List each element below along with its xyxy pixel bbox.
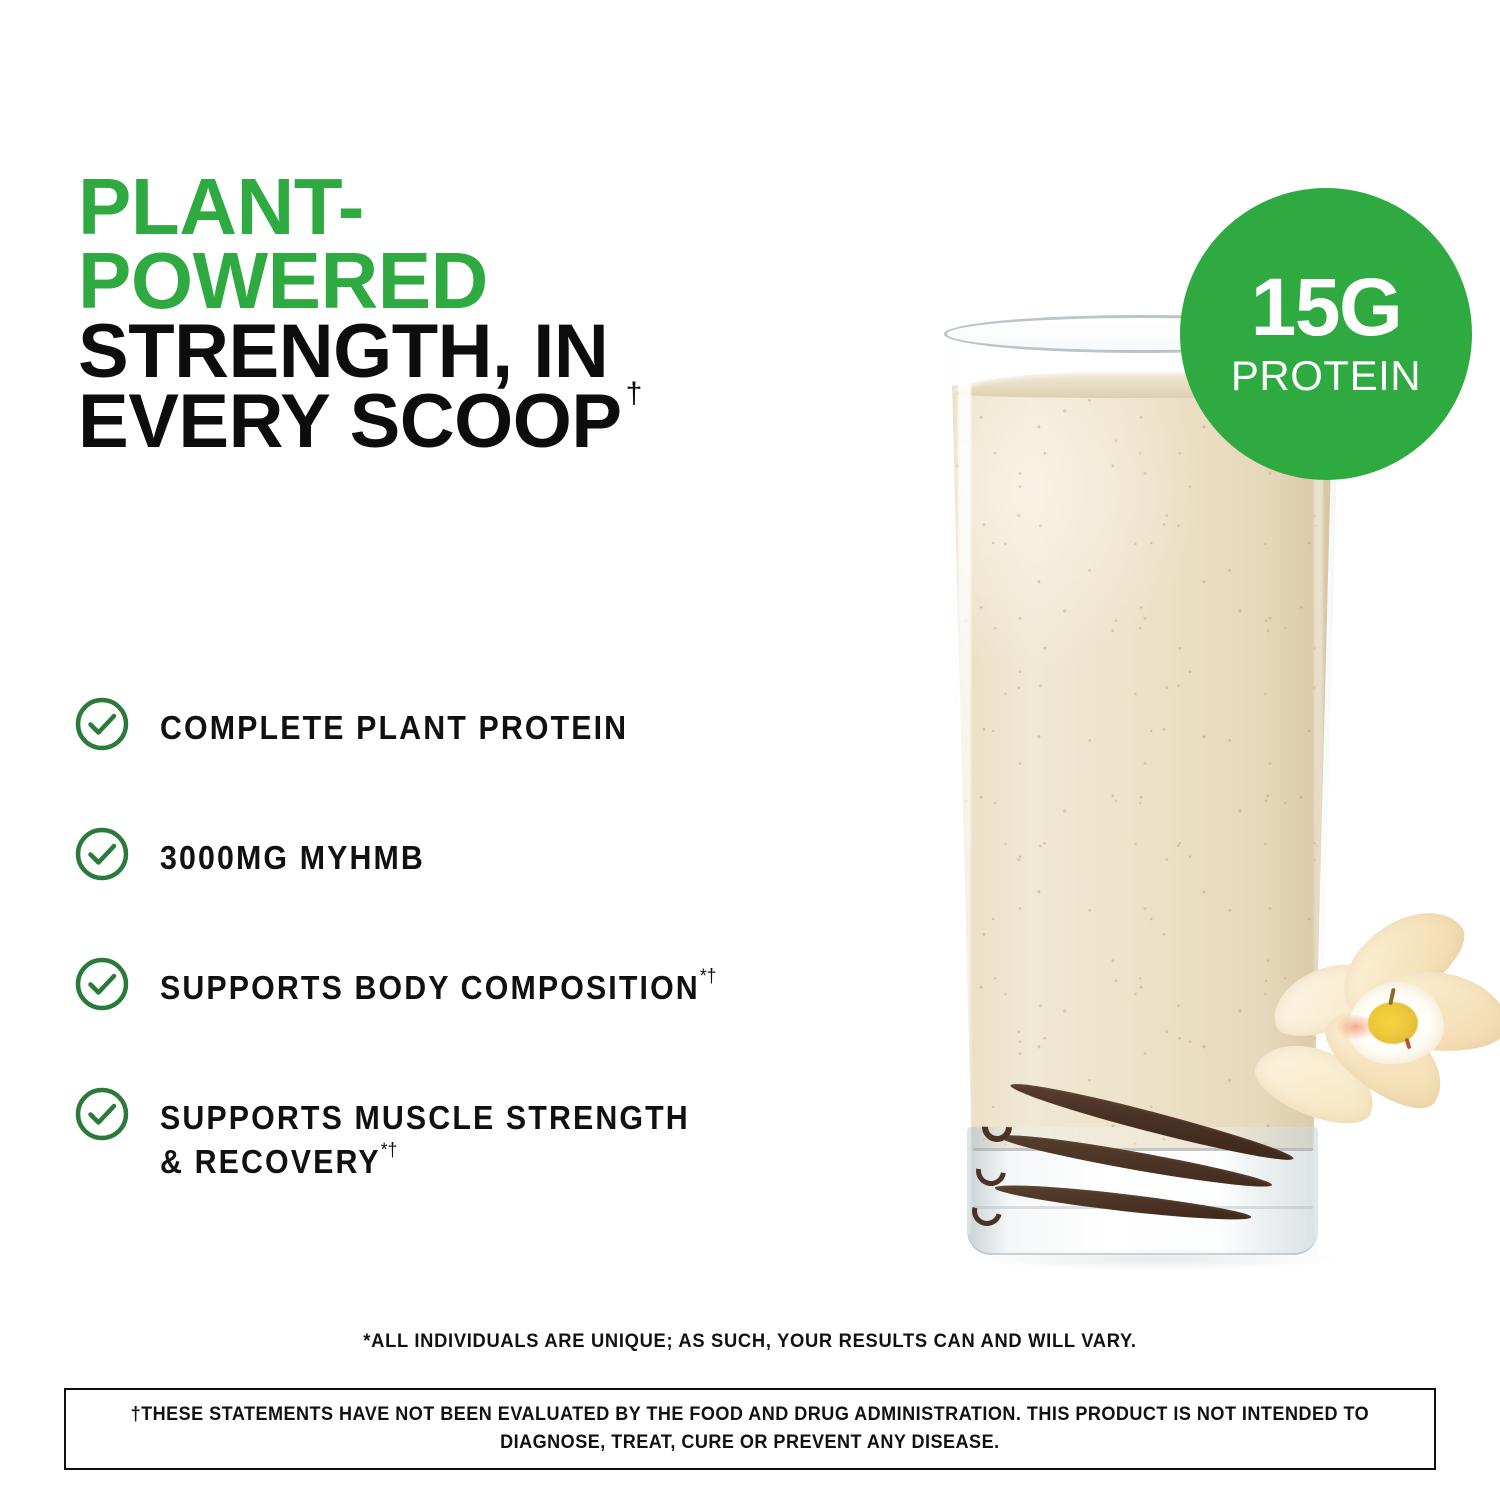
- fda-disclaimer-box: †THESE STATEMENTS HAVE NOT BEEN EVALUATE…: [64, 1388, 1436, 1470]
- benefit-label-line2: & RECOVERY: [160, 1143, 381, 1180]
- headline-line-1: PLANT-: [78, 170, 878, 244]
- protein-badge: 15G PROTEIN: [1180, 188, 1472, 480]
- benefit-text: SUPPORTS MUSCLE STRENGTH & RECOVERY*†: [160, 1090, 690, 1183]
- benefit-text: 3000MG MYHMB: [160, 830, 425, 880]
- benefit-superscript: *†: [700, 966, 717, 987]
- badge-amount: 15G: [1251, 271, 1402, 345]
- benefit-label-line1: SUPPORTS MUSCLE STRENGTH: [160, 1099, 690, 1136]
- list-item: 3000MG MYHMB: [74, 830, 974, 882]
- benefits-list: COMPLETE PLANT PROTEIN 3000MG MYHMB SUPP…: [74, 700, 974, 1183]
- headline-line-2: POWERED: [78, 244, 878, 318]
- benefit-label: 3000MG MYHMB: [160, 839, 425, 876]
- list-item: SUPPORTS MUSCLE STRENGTH & RECOVERY*†: [74, 1090, 974, 1183]
- flower-center: [1368, 1002, 1418, 1044]
- check-circle-icon: [74, 956, 130, 1012]
- list-item: COMPLETE PLANT PROTEIN: [74, 700, 974, 752]
- headline-line-3: STRENGTH, IN: [78, 317, 878, 387]
- vanilla-bean-hook: [967, 1191, 1008, 1232]
- disclaimer-line-2: DIAGNOSE, TREAT, CURE OR PREVENT ANY DIS…: [500, 1429, 999, 1458]
- benefit-label: COMPLETE PLANT PROTEIN: [160, 709, 628, 746]
- check-circle-icon: [74, 696, 130, 752]
- vanilla-orchid-flower: [1240, 910, 1500, 1170]
- results-footnote: *ALL INDIVIDUALS ARE UNIQUE; AS SUCH, YO…: [45, 1330, 1455, 1353]
- badge-label: PROTEIN: [1231, 355, 1421, 397]
- benefit-label: SUPPORTS BODY COMPOSITION: [160, 969, 700, 1006]
- check-circle-icon: [74, 1086, 130, 1142]
- disclaimer-line-1: †THESE STATEMENTS HAVE NOT BEEN EVALUATE…: [131, 1401, 1370, 1430]
- headline-dagger-superscript: †: [626, 377, 643, 410]
- benefit-text: COMPLETE PLANT PROTEIN: [160, 700, 628, 750]
- vanilla-bean: [994, 1179, 1252, 1225]
- benefit-text: SUPPORTS BODY COMPOSITION*†: [160, 960, 716, 1010]
- check-circle-icon: [74, 826, 130, 882]
- headline-line-4-text: EVERY SCOOP: [78, 387, 622, 457]
- headline-line-4: EVERY SCOOP†: [78, 387, 878, 457]
- list-item: SUPPORTS BODY COMPOSITION*†: [74, 960, 974, 1012]
- headline-block: PLANT- POWERED STRENGTH, IN EVERY SCOOP†: [78, 170, 878, 457]
- benefit-superscript: *†: [381, 1140, 398, 1161]
